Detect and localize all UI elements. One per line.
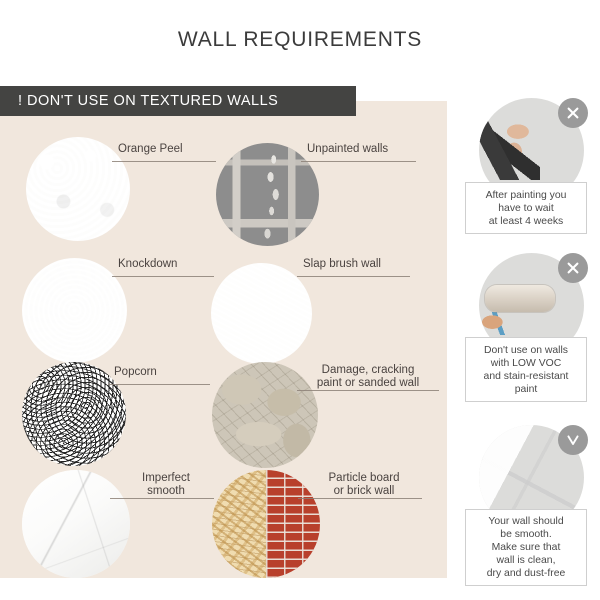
texture-label-rule: [112, 276, 214, 277]
texture-item-imperfect-smooth: Imperfect smooth: [22, 470, 212, 578]
texture-item-particle-board-brick: Particle board or brick wall: [212, 470, 432, 578]
osb-half: [212, 470, 266, 578]
texture-label-rule: [297, 390, 439, 391]
tip-card-wait-4-weeks: After painting you have to wait at least…: [460, 98, 592, 238]
texture-label: Damage, cracking paint or sanded wall: [302, 364, 434, 389]
texture-item-popcorn: Popcorn: [22, 362, 212, 468]
texture-item-unpainted-walls: Unpainted walls: [216, 143, 416, 247]
tip-card-smooth-wall: Your wall should be smooth. Make sure th…: [460, 425, 592, 590]
check-icon: [558, 425, 588, 455]
slap-brush-texture: [211, 263, 312, 364]
texture-label-rule: [108, 384, 210, 385]
cross-icon: [558, 98, 588, 128]
texture-label-rule: [110, 498, 214, 499]
warning-banner: ! DON'T USE ON TEXTURED WALLS: [0, 86, 356, 116]
warning-banner-label: ! DON'T USE ON TEXTURED WALLS: [0, 93, 278, 109]
texture-label: Knockdown: [118, 258, 218, 271]
popcorn-texture: [22, 362, 126, 466]
unpainted-wall-photo: [216, 143, 319, 246]
texture-item-damaged-wall: Damage, cracking paint or sanded wall: [212, 362, 432, 468]
imperfect-smooth-texture: [22, 470, 130, 578]
texture-label-rule: [112, 161, 216, 162]
texture-label-rule: [298, 498, 422, 499]
cross-icon: [558, 253, 588, 283]
texture-label: Popcorn: [114, 366, 214, 379]
texture-label: Slap brush wall: [303, 258, 415, 271]
infographic-root: WALL REQUIREMENTS ! DON'T USE ON TEXTURE…: [0, 0, 600, 600]
orange-peel-texture: [26, 137, 130, 241]
tip-caption: Your wall should be smooth. Make sure th…: [465, 509, 587, 586]
knockdown-texture: [22, 258, 127, 363]
texture-label: Unpainted walls: [307, 143, 415, 156]
texture-label: Orange Peel: [118, 143, 218, 156]
tip-card-low-voc: Don't use on walls with LOW VOC and stai…: [460, 253, 592, 408]
texture-label-rule: [301, 161, 416, 162]
texture-item-slap-brush-wall: Slap brush wall: [211, 263, 411, 367]
page-title: WALL REQUIREMENTS: [0, 28, 600, 52]
texture-label: Imperfect smooth: [116, 472, 216, 497]
texture-label: Particle board or brick wall: [304, 472, 424, 497]
texture-item-orange-peel: Orange Peel: [26, 137, 216, 243]
tip-caption: After painting you have to wait at least…: [465, 182, 587, 234]
texture-item-knockdown: Knockdown: [22, 258, 212, 363]
tip-caption: Don't use on walls with LOW VOC and stai…: [465, 337, 587, 402]
texture-label-rule: [297, 276, 410, 277]
